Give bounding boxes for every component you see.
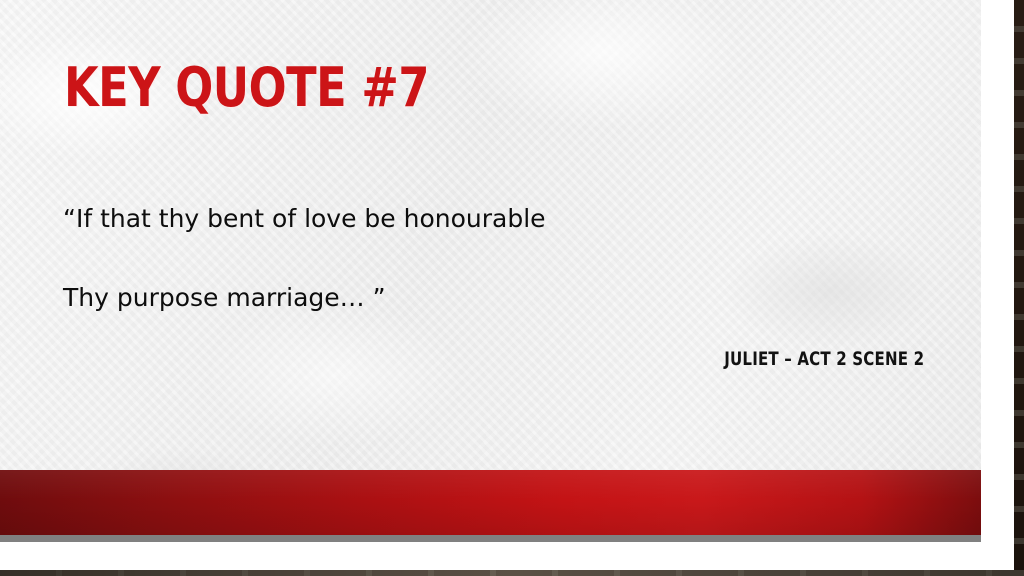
quote-block: “If that thy bent of love be honourable … bbox=[63, 204, 883, 313]
footer-red-band-sheen bbox=[0, 470, 981, 535]
quote-line-1: “If that thy bent of love be honourable bbox=[63, 204, 883, 235]
quote-attribution: JULIET – ACT 2 SCENE 2 bbox=[0, 348, 924, 370]
slide-canvas: KEY QUOTE #7 “If that thy bent of love b… bbox=[0, 0, 981, 542]
page-title: KEY QUOTE #7 bbox=[64, 60, 429, 116]
slide-stage: KEY QUOTE #7 “If that thy bent of love b… bbox=[0, 0, 1024, 576]
footer-grey-rule bbox=[0, 535, 981, 542]
quote-attribution-text: JULIET – ACT 2 SCENE 2 bbox=[724, 348, 924, 370]
footer-red-band bbox=[0, 470, 981, 535]
quote-line-2: Thy purpose marriage… ” bbox=[63, 283, 883, 314]
presentation-slide: KEY QUOTE #7 “If that thy bent of love b… bbox=[0, 0, 1000, 556]
